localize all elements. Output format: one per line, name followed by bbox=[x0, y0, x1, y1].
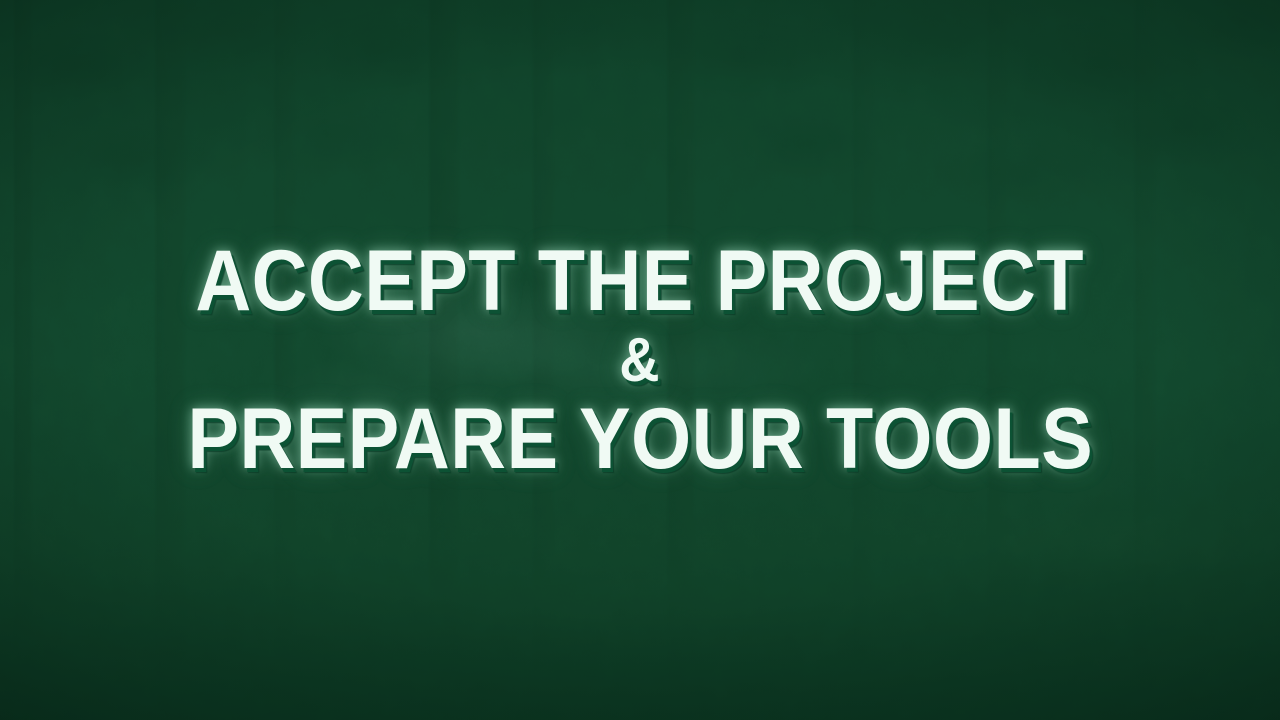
headline-line-2: PREPARE YOUR TOOLS bbox=[187, 396, 1093, 482]
title-card: ACCEPT THE PROJECT & PREPARE YOUR TOOLS bbox=[0, 0, 1280, 720]
headline-ampersand: & bbox=[620, 330, 661, 392]
headline-block: ACCEPT THE PROJECT & PREPARE YOUR TOOLS bbox=[0, 0, 1280, 720]
headline-line-1: ACCEPT THE PROJECT bbox=[196, 238, 1085, 324]
